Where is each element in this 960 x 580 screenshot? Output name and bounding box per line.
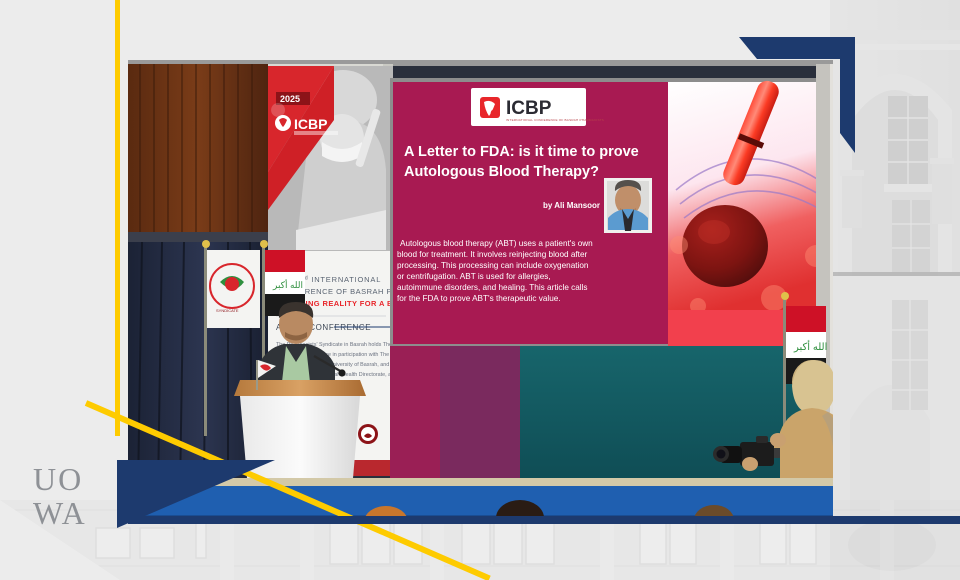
svg-text:الله أكبر: الله أكبر — [272, 278, 303, 291]
speaker-headshot — [604, 178, 652, 233]
navy-corner-bracket-top-right — [739, 37, 855, 153]
svg-text:processing. This processing ca: processing. This processing can include … — [397, 261, 589, 270]
conference-photo: 2025 ICBP THE 2nd INTERNATIONAL CONFEREN… — [128, 60, 833, 523]
screenshot-canvas: 2025 ICBP THE 2nd INTERNATIONAL CONFEREN… — [0, 0, 960, 580]
slide-byline: by Ali Mansoor — [543, 201, 600, 210]
banner-logo-text: ICBP — [294, 116, 327, 132]
svg-text:Autologous blood therapy (ABT): Autologous blood therapy (ABT) uses a pa… — [400, 239, 593, 248]
slide-logo-text: ICBP — [506, 98, 552, 119]
banner-year: 2025 — [280, 94, 300, 104]
slide-icbp-logo: ICBP INTERNATIONAL CONFERENCE OF BASRAH … — [471, 88, 604, 126]
slide-title-line2: Autologous Blood Therapy? — [404, 164, 599, 180]
svg-text:for the FDA to prove ABT's the: for the FDA to prove ABT's therapeutic v… — [397, 294, 561, 303]
svg-text:or centrifugation. ABT is used: or centrifugation. ABT is used for aller… — [397, 272, 551, 281]
svg-text:autoimmune disorders, and heal: autoimmune disorders, and healing. This … — [397, 283, 588, 292]
uowa-logo-line2: WA — [33, 496, 87, 530]
slide-title-line1: A Letter to FDA: is it time to prove — [404, 144, 639, 160]
svg-text:SYNDICATE: SYNDICATE — [216, 308, 239, 313]
yellow-vertical-rule — [115, 0, 120, 436]
svg-text:الله أكبر: الله أكبر — [793, 340, 827, 353]
photo-content: 2025 ICBP THE 2nd INTERNATIONAL CONFEREN… — [128, 60, 833, 523]
uowa-logo-line1: UO — [33, 462, 87, 496]
svg-text:blood for treatment. It involv: blood for treatment. It involves reinjec… — [397, 250, 588, 259]
navy-bottom-bar — [128, 516, 960, 524]
uowa-logo: UO WA — [33, 462, 87, 530]
slide-logo-subtitle: INTERNATIONAL CONFERENCE OF BASRAH PHARM… — [506, 118, 604, 122]
